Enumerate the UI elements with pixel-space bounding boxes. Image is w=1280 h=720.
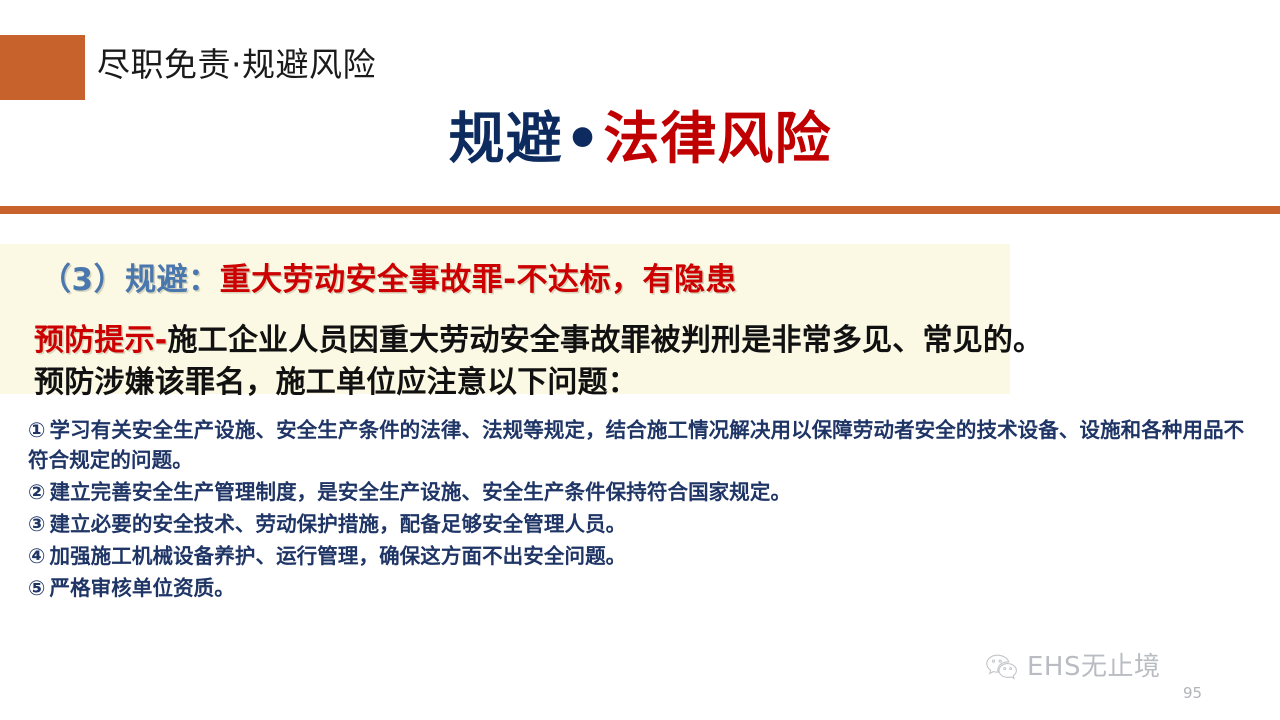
page-title-blue-part: 规避 [449,107,563,172]
page-title-red-part: 法律风险 [603,107,831,172]
list-item-text: 学习有关安全生产设施、安全生产条件的法律、法规等规定，结合施工情况解决用以保障劳… [28,418,1244,472]
prevention-tip-line: 预防提示-施工企业人员因重大劳动安全事故罪被判刑是非常多见、常见的。 [34,320,1043,362]
slide: 尽职免责·规避风险 规避•法律风险 （3）规避：重大劳动安全事故罪-不达标，有隐… [0,0,1280,720]
list-item-text: 建立必要的安全技术、劳动保护措施，配备足够安全管理人员。 [49,512,626,536]
watermark: EHS无止境 [985,652,1160,682]
list-item-text: 建立完善安全生产管理制度，是安全生产设施、安全生产条件保持符合国家规定。 [49,480,791,504]
list-item: ⑤严格审核单位资质。 [28,573,1253,603]
prevention-tip-line2: 预防涉嫌该罪名，施工单位应注意以下问题： [34,362,638,404]
section-heading-lead: （3）规避： [40,262,220,298]
header-title: 尽职免责·规避风险 [97,41,376,89]
list-item-marker: ③ [28,512,45,536]
section-divider [0,206,1280,214]
watermark-text: EHS无止境 [1027,652,1160,682]
list-item-text: 加强施工机械设备养护、运行管理，确保这方面不出安全问题。 [49,544,626,568]
list-item-marker: ④ [28,544,45,568]
list-item: ③建立必要的安全技术、劳动保护措施，配备足够安全管理人员。 [28,509,1253,539]
wechat-icon [985,653,1019,681]
advice-list: ①学习有关安全生产设施、安全生产条件的法律、法规等规定，结合施工情况解决用以保障… [28,415,1253,605]
prevention-tip-body: 施工企业人员因重大劳动安全事故罪被判刑是非常多见、常见的。 [167,323,1043,358]
prevention-tip-label: 预防提示- [34,323,167,358]
list-item-text: 严格审核单位资质。 [49,576,234,600]
list-item: ①学习有关安全生产设施、安全生产条件的法律、法规等规定，结合施工情况解决用以保障… [28,415,1253,475]
page-number: 95 [1183,684,1202,702]
page-title: 规避•法律风险 [0,105,1280,175]
page-title-separator: • [563,107,604,172]
list-item-marker: ⑤ [28,576,45,600]
list-item: ②建立完善安全生产管理制度，是安全生产设施、安全生产条件保持符合国家规定。 [28,477,1253,507]
section-heading: （3）规避：重大劳动安全事故罪-不达标，有隐患 [40,258,737,302]
section-heading-crime: 重大劳动安全事故罪-不达标，有隐患 [220,262,737,298]
list-item-marker: ① [28,418,45,442]
header-accent-block [0,35,85,100]
list-item: ④加强施工机械设备养护、运行管理，确保这方面不出安全问题。 [28,541,1253,571]
list-item-marker: ② [28,480,45,504]
